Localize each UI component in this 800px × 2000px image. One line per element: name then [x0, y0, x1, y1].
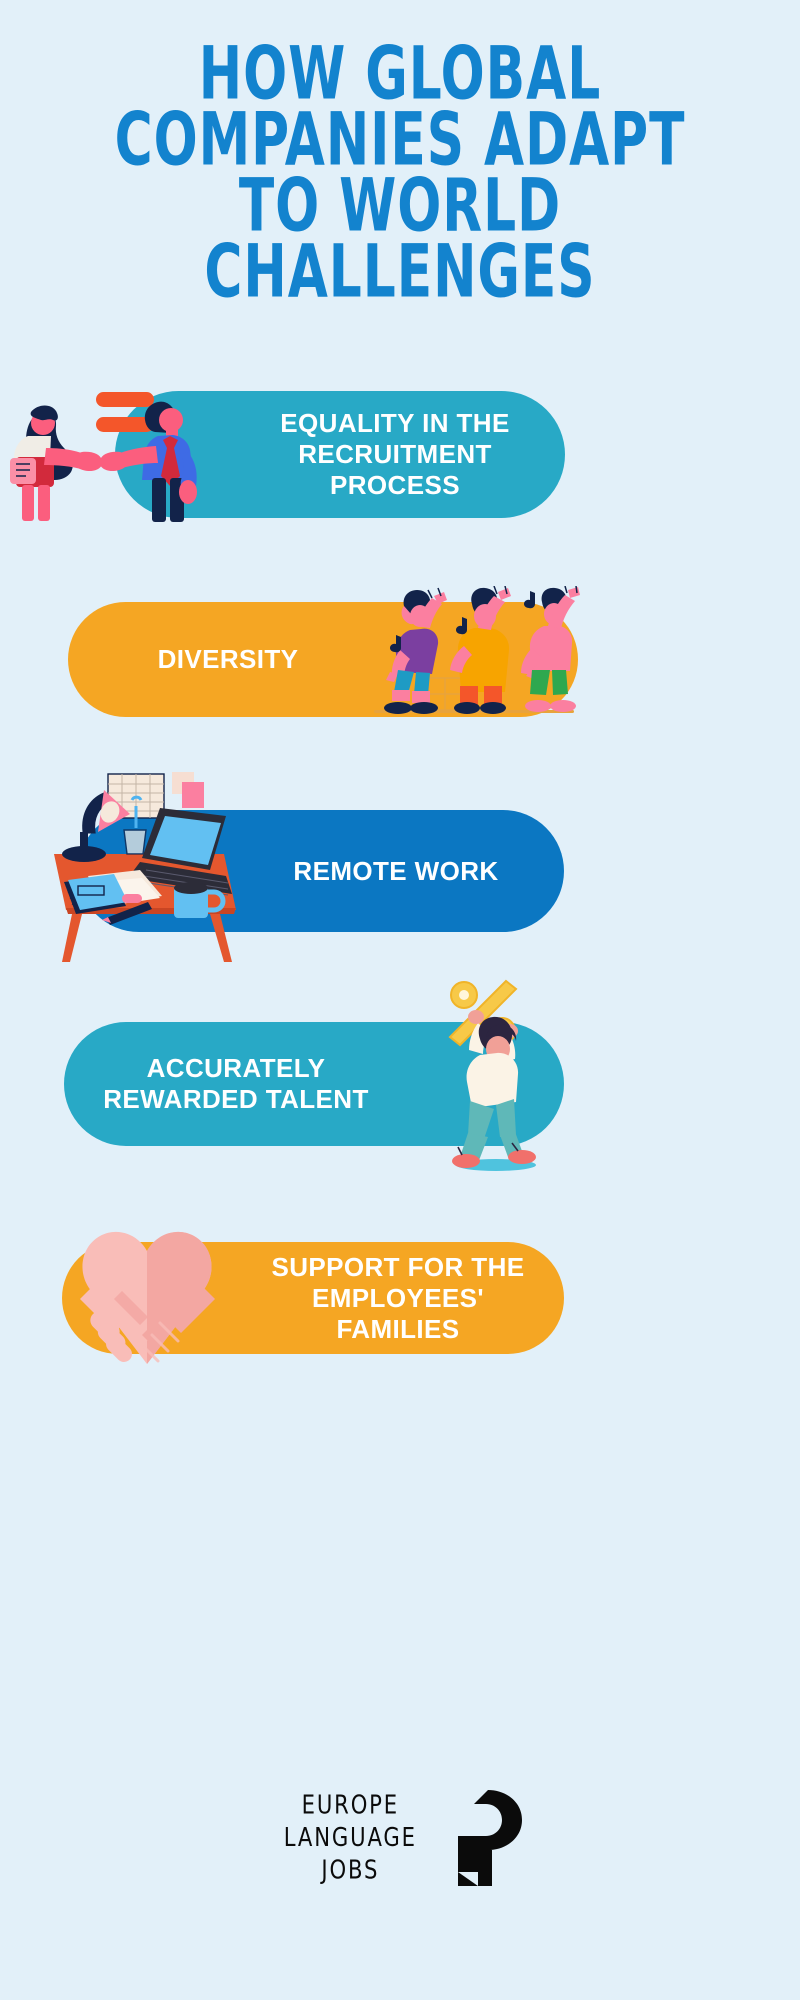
brand-wordmark: EUROPE LANGUAGE JOBS — [283, 1789, 416, 1886]
card-label-rewarded-talent: ACCURATELY REWARDED TALENT — [86, 1053, 386, 1115]
two-people-handshake-equals-sign-icon — [8, 384, 248, 524]
title-line-4: Challenges — [16, 232, 784, 313]
card-label-diversity: DIVERSITY — [78, 644, 378, 675]
card-label-equality: EQUALITY IN THE RECRUITMENT PROCESS — [245, 408, 545, 501]
brand-line-jobs: JOBS — [321, 1854, 379, 1886]
brand-line-language: LANGUAGE — [283, 1822, 416, 1854]
heart-handshake-icon — [60, 1225, 235, 1370]
footer-logo: EUROPE LANGUAGE JOBS — [0, 1790, 800, 1886]
home-desk-laptop-icon — [48, 770, 283, 965]
person-holding-percent-sign-icon — [440, 975, 570, 1175]
dancing-people-group-icon — [368, 586, 583, 721]
page-title: How Global Companies Adapt to World Chal… — [0, 34, 800, 298]
card-label-support-families: SUPPORT FOR THE EMPLOYEES' FAMILIES — [248, 1252, 548, 1345]
elj-monogram-icon — [448, 1790, 522, 1886]
brand-line-europe: EUROPE — [301, 1789, 398, 1821]
card-label-remote-work: REMOTE WORK — [246, 856, 546, 887]
